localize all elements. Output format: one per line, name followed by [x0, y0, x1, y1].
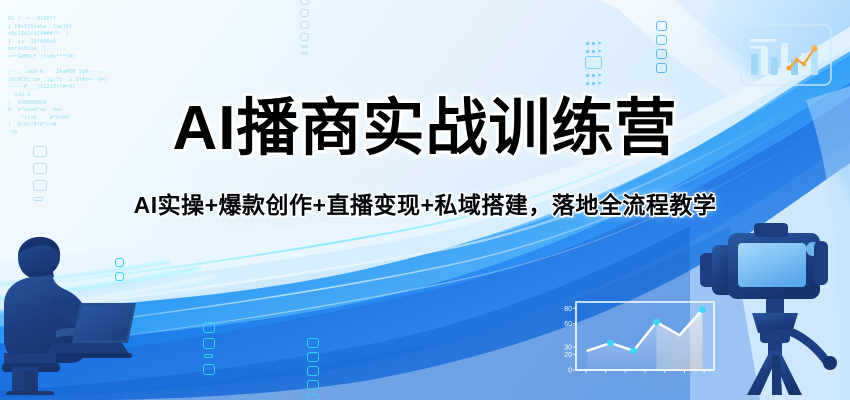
chart-data-point	[653, 319, 660, 326]
person-with-laptop-silhouette	[0, 235, 179, 400]
chart-xtick-label: ··	[644, 384, 647, 389]
poster-banner: 01 /--> 0100** { C#xVS5nabe lue1Qt v0i1X…	[0, 0, 850, 400]
chart-ytick-label: 30	[564, 344, 572, 351]
chart-xtick-label: ···	[682, 377, 686, 382]
chart-data-point	[630, 347, 637, 354]
chart-xtick-label: ···	[643, 377, 647, 382]
line-chart: 020306080 ···························	[548, 296, 720, 400]
chart-xtick-label: ···	[663, 377, 667, 382]
poster-title: AI播商实战训练营	[172, 98, 677, 160]
chart-ytick-label: 0	[568, 368, 572, 375]
line-chart-svg: 020306080 ···························	[548, 296, 720, 396]
poster-subtitle: AI实操+爆款创作+直播变现+私域搭建，落地全流程教学	[134, 186, 717, 220]
chart-xtick-label: ··	[683, 384, 686, 389]
chart-ytick-label: 20	[564, 352, 572, 359]
chart-data-point	[699, 306, 706, 313]
chart-xtick-label: ···	[584, 377, 588, 382]
analytics-bar-chart-icon	[740, 24, 832, 91]
chart-xtick-label: ···	[623, 377, 627, 382]
chart-xtick-label: ···	[603, 377, 607, 382]
chart-ytick-label: 60	[564, 321, 572, 328]
chart-ytick-label: 80	[564, 306, 572, 313]
chart-xtick-label: ···	[702, 377, 706, 382]
chart-xtick-label: ··	[663, 384, 666, 389]
poster-title-container: AI播商实战训练营	[0, 98, 850, 160]
poster-subtitle-container: AI实操+爆款创作+直播变现+私域搭建，落地全流程教学	[0, 186, 850, 220]
chart-data-point	[607, 340, 614, 347]
